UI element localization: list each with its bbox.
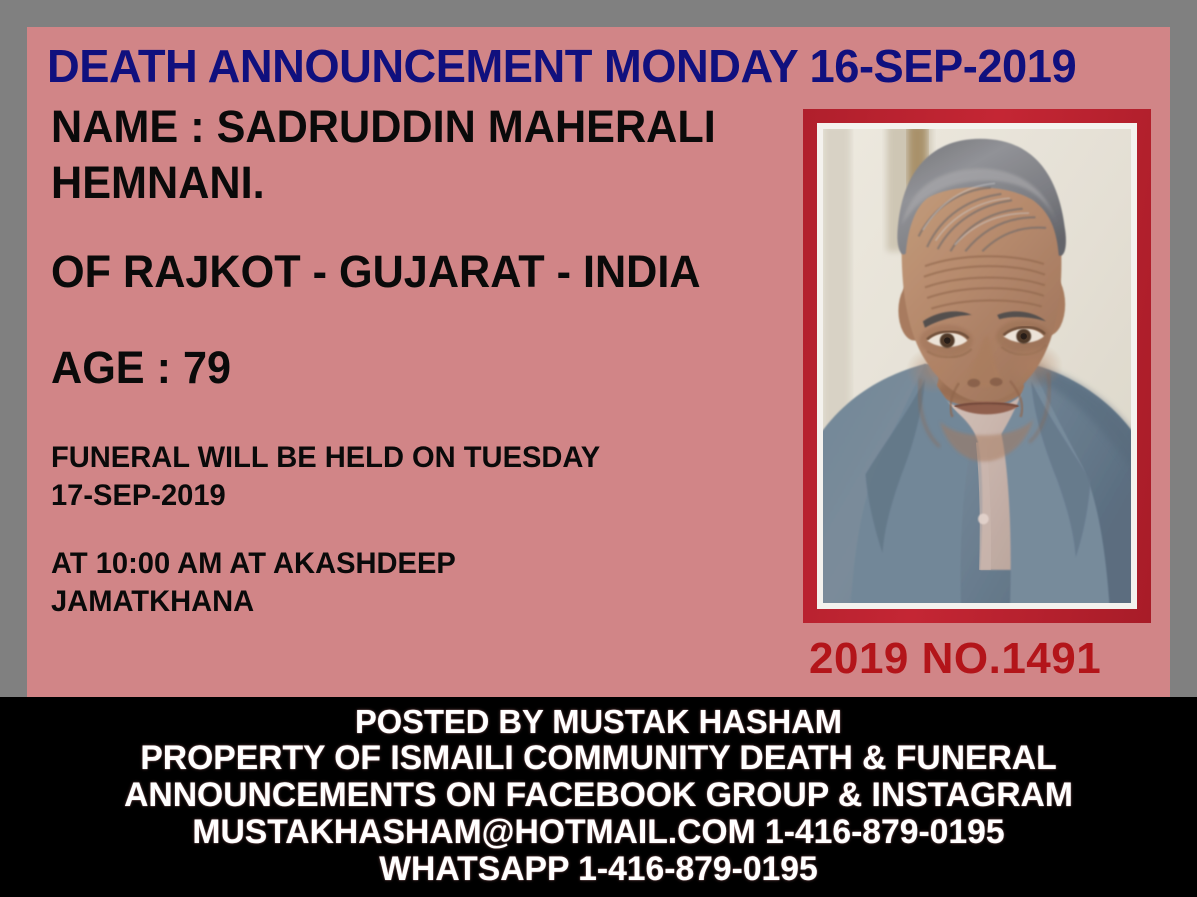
age-label: AGE : 79 (51, 342, 809, 394)
funeral-schedule-line-2: 17-SEP-2019 (51, 477, 788, 515)
deceased-name-block: NAME : SADRUDDIN MAHERALI HEMNANI. (51, 99, 809, 211)
funeral-schedule-block: FUNERAL WILL BE HELD ON TUESDAY 17-SEP-2… (51, 439, 788, 515)
portrait-mat (817, 123, 1137, 609)
page-title: DEATH ANNOUNCEMENT MONDAY 16-SEP-2019 (47, 40, 1140, 92)
footer-line-posted-by: POSTED BY MUSTAK HASHAM (6, 703, 1191, 740)
footer-line-email-phone: MUSTAKHASHAM@HOTMAIL.COM 1-416-879-0195 (6, 814, 1191, 851)
footer-line-announcements: ANNOUNCEMENTS ON FACEBOOK GROUP & INSTAG… (6, 777, 1191, 814)
origin-place: OF RAJKOT - GUJARAT - INDIA (51, 246, 809, 298)
funeral-venue-line-2: JAMATKHANA (51, 583, 788, 621)
portrait-frame (803, 109, 1151, 623)
funeral-schedule-line-1: FUNERAL WILL BE HELD ON TUESDAY (51, 439, 788, 477)
details-column: NAME : SADRUDDIN MAHERALI HEMNANI. OF RA… (51, 99, 811, 621)
funeral-venue-line-1: AT 10:00 AM AT AKASHDEEP (51, 545, 788, 583)
deceased-name-line-1: NAME : SADRUDDIN MAHERALI (51, 99, 809, 155)
portrait-photo (823, 129, 1131, 603)
announcement-card: DEATH ANNOUNCEMENT MONDAY 16-SEP-2019 NA… (27, 27, 1170, 697)
serial-number: 2019 NO.1491 (809, 635, 1101, 683)
funeral-venue-block: AT 10:00 AM AT AKASHDEEP JAMATKHANA (51, 545, 788, 621)
deceased-name-line-2: HEMNANI. (51, 155, 809, 211)
footer-line-whatsapp: WHATSAPP 1-416-879-0195 (6, 851, 1191, 888)
portrait-photo-artwork (823, 129, 1131, 603)
poster-footer: POSTED BY MUSTAK HASHAM PROPERTY OF ISMA… (0, 697, 1197, 897)
footer-line-property-of: PROPERTY OF ISMAILI COMMUNITY DEATH & FU… (6, 740, 1191, 777)
death-announcement-poster: DEATH ANNOUNCEMENT MONDAY 16-SEP-2019 NA… (0, 0, 1197, 897)
